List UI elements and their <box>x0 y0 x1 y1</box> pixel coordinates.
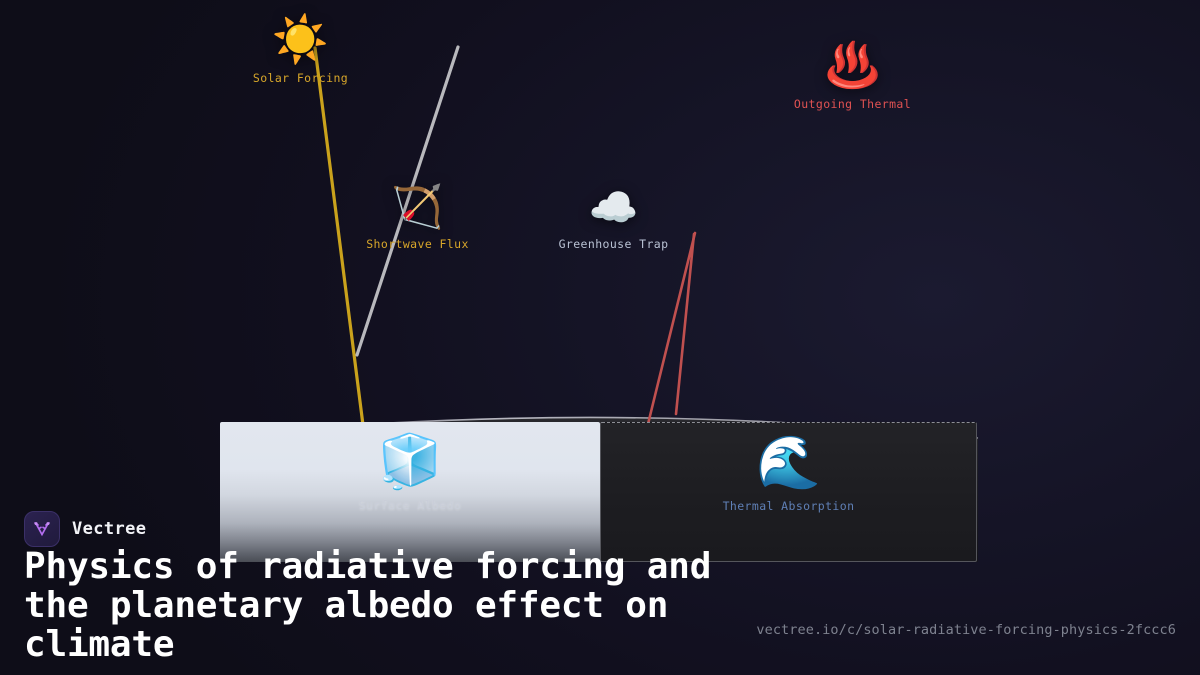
panel-label: Surface Albedo <box>359 498 462 512</box>
hot-springs-icon: ♨️ <box>825 44 880 88</box>
water-wave-icon: 🌊 <box>756 437 821 489</box>
cloud-icon: ☁️ <box>589 188 639 228</box>
node-greenhouse-trap[interactable]: ☁️ Greenhouse Trap <box>566 188 661 251</box>
node-label: Solar Forcing <box>253 71 348 85</box>
node-shortwave-flux[interactable]: 🏹 Shortwave Flux <box>370 186 465 251</box>
vectree-branch-icon <box>24 511 60 547</box>
flow-thermal-beam-b <box>676 234 694 414</box>
node-label: Outgoing Thermal <box>794 97 911 111</box>
panel-label: Thermal Absorption <box>723 499 855 513</box>
page-title: Physics of radiative forcing and the pla… <box>24 548 754 665</box>
node-label: Greenhouse Trap <box>559 237 669 251</box>
share-card-canvas: ☀️ Solar Forcing 🏹 Shortwave Flux ☁️ Gre… <box>0 0 1200 675</box>
bow-and-arrow-icon: 🏹 <box>391 186 443 228</box>
flow-solar-beam <box>315 48 363 425</box>
brand[interactable]: Vectree <box>24 511 146 547</box>
node-label: Shortwave Flux <box>366 237 469 251</box>
panel-surface-albedo[interactable]: 🧊 Surface Albedo <box>220 422 600 562</box>
node-outgoing-thermal[interactable]: ♨️ Outgoing Thermal <box>805 44 900 111</box>
permalink-url: vectree.io/c/solar-radiative-forcing-phy… <box>756 622 1176 638</box>
sun-icon: ☀️ <box>272 16 329 62</box>
ice-cube-icon: 🧊 <box>378 436 443 488</box>
panel-thermal-absorption[interactable]: 🌊 Thermal Absorption <box>600 422 977 562</box>
brand-name: Vectree <box>72 519 146 539</box>
flow-thermal-beam-a <box>648 233 695 424</box>
node-solar-forcing[interactable]: ☀️ Solar Forcing <box>253 16 348 85</box>
